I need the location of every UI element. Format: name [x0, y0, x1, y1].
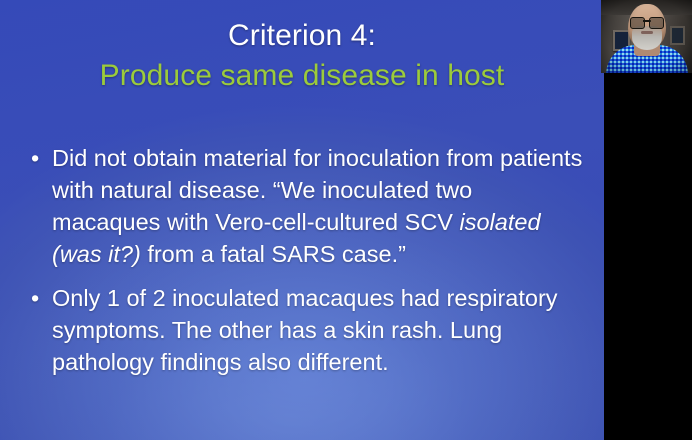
- slide-body-bullets: • Did not obtain material for inoculatio…: [26, 142, 586, 378]
- bullet-item: • Only 1 of 2 inoculated macaques had re…: [26, 282, 586, 378]
- bullet-marker-icon: •: [31, 142, 39, 174]
- bullet-text-segment: from a fatal SARS case.”: [141, 241, 406, 267]
- slide-canvas: Criterion 4: Produce same disease in hos…: [0, 0, 692, 440]
- slide-title-line-1: Criterion 4:: [0, 16, 604, 56]
- slide-title-line-2: Produce same disease in host: [0, 56, 604, 96]
- bullet-text-segment: Only 1 of 2 inoculated macaques had resp…: [52, 285, 558, 375]
- bullet-item: • Did not obtain material for inoculatio…: [26, 142, 586, 270]
- presentation-screen-share: Criterion 4: Produce same disease in hos…: [0, 0, 692, 440]
- presenter-webcam-thumbnail[interactable]: [601, 0, 692, 73]
- webcam-vignette: [601, 0, 692, 73]
- slide-title-block: Criterion 4: Produce same disease in hos…: [0, 16, 604, 96]
- bullet-marker-icon: •: [31, 282, 39, 314]
